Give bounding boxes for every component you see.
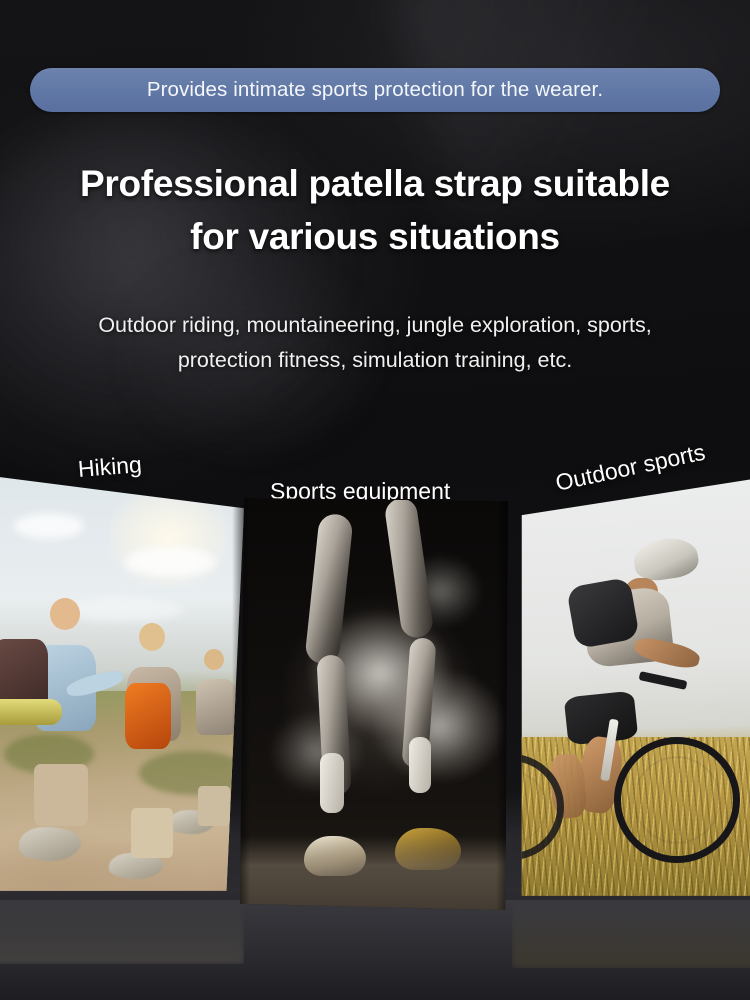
cloud <box>14 513 84 539</box>
subtitle-line-1: Outdoor riding, mountaineering, jungle e… <box>98 313 651 337</box>
photo-panel-outdoor-sports <box>512 470 750 900</box>
photo-panel-group <box>0 470 750 920</box>
hiker-bedroll <box>0 699 62 725</box>
subtitle: Outdoor riding, mountaineering, jungle e… <box>0 308 750 378</box>
athlete-sock <box>320 753 344 813</box>
hiker-legs <box>198 786 230 826</box>
photo-panel-hiking <box>0 470 244 895</box>
headline-line-2: for various situations <box>26 211 724 264</box>
hiker-head <box>50 598 80 630</box>
bike-wheel <box>614 737 740 863</box>
hiking-photo <box>0 470 244 895</box>
cyclist-jersey <box>566 577 640 649</box>
tagline-banner: Provides intimate sports protection for … <box>30 68 720 112</box>
panel-edge-shadow <box>512 470 522 900</box>
sports-equipment-photo <box>240 498 508 910</box>
hiker-head <box>139 623 165 651</box>
photo-panel-sports-equipment <box>240 498 508 910</box>
panel-edge-shadow <box>496 498 508 910</box>
cloud <box>124 547 216 577</box>
outdoor-sports-photo <box>512 470 750 900</box>
cyclist-helmet <box>632 535 701 584</box>
product-feature-poster: Provides intimate sports protection for … <box>0 0 750 1000</box>
headline-line-1: Professional patella strap suitable <box>80 163 670 204</box>
chalk-dust-cloud <box>374 671 504 781</box>
subtitle-line-2: protection fitness, simulation training,… <box>22 343 728 378</box>
hiker-legs <box>131 808 173 858</box>
athlete-sock <box>409 737 431 793</box>
hiker-backpack <box>125 683 171 749</box>
hiker-figure <box>0 598 114 896</box>
tagline-banner-text: Provides intimate sports protection for … <box>147 78 603 102</box>
page-title: Professional patella strap suitable for … <box>0 158 750 263</box>
hiker-torso <box>196 679 236 735</box>
hiker-head <box>204 649 224 670</box>
gym-floor <box>240 836 508 910</box>
handlebar <box>638 671 687 690</box>
hiker-legs <box>34 764 88 826</box>
